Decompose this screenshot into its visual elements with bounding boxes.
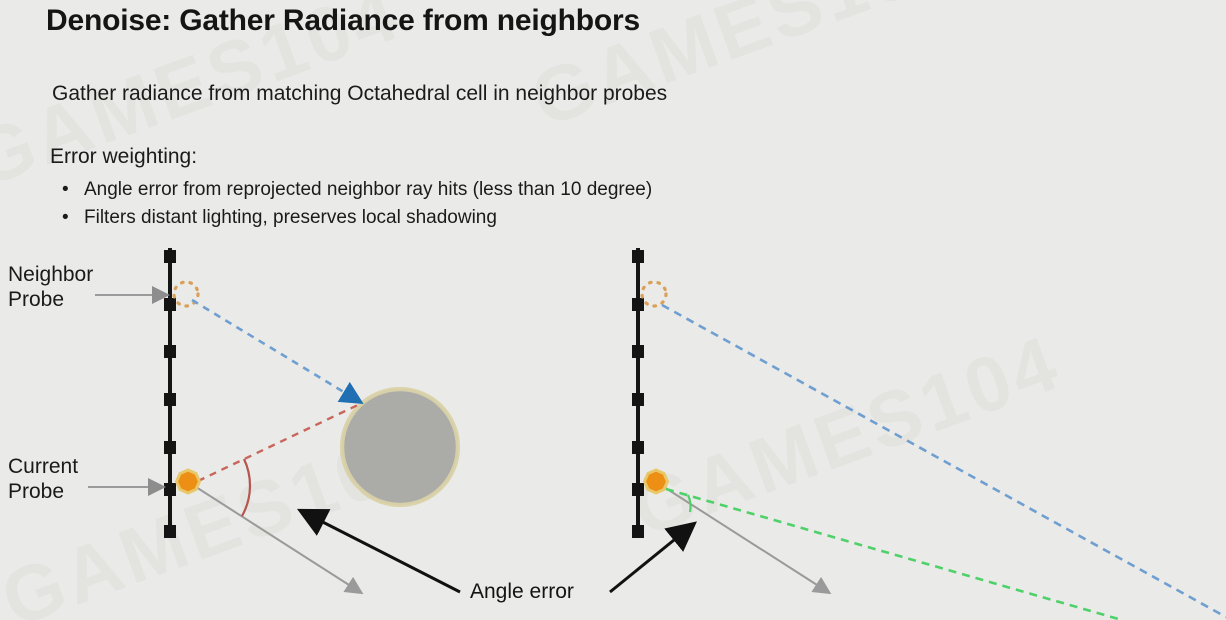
current-probe-icon bbox=[645, 470, 668, 493]
current-ray-green bbox=[666, 489, 1122, 620]
neighbor-ray-blue bbox=[662, 305, 1226, 617]
wall-tick bbox=[164, 345, 176, 358]
wall-tick bbox=[632, 250, 644, 263]
left-diagram-panel bbox=[164, 248, 460, 592]
wall-tick bbox=[164, 525, 176, 538]
wall-tick bbox=[164, 250, 176, 263]
current-probe-normal-arrow bbox=[664, 487, 828, 592]
wall-tick bbox=[632, 345, 644, 358]
wall-tick bbox=[164, 483, 176, 496]
diagram-svg bbox=[0, 0, 1226, 620]
neighbor-probe-icon bbox=[642, 282, 666, 306]
wall-tick bbox=[164, 298, 176, 311]
current-probe-normal-arrow bbox=[196, 487, 360, 592]
right-diagram-panel bbox=[632, 248, 1226, 620]
current-probe-icon bbox=[177, 470, 200, 493]
wall-tick bbox=[632, 441, 644, 454]
angle-error-callout-arrow-right bbox=[610, 527, 690, 592]
wall-tick bbox=[164, 393, 176, 406]
wall-tick bbox=[632, 483, 644, 496]
neighbor-ray-blue bbox=[192, 300, 357, 400]
current-ray-red bbox=[198, 403, 362, 481]
angle-error-callout-arrow-left bbox=[305, 513, 460, 592]
wall-tick bbox=[632, 393, 644, 406]
slide-canvas: GAMES104 GAMES104 GAMES104 GAMES104 Deno… bbox=[0, 0, 1226, 620]
wall-tick bbox=[632, 525, 644, 538]
wall-tick bbox=[632, 298, 644, 311]
occluder-sphere bbox=[343, 390, 457, 504]
wall-tick bbox=[164, 441, 176, 454]
angle-arc-red bbox=[242, 459, 250, 516]
